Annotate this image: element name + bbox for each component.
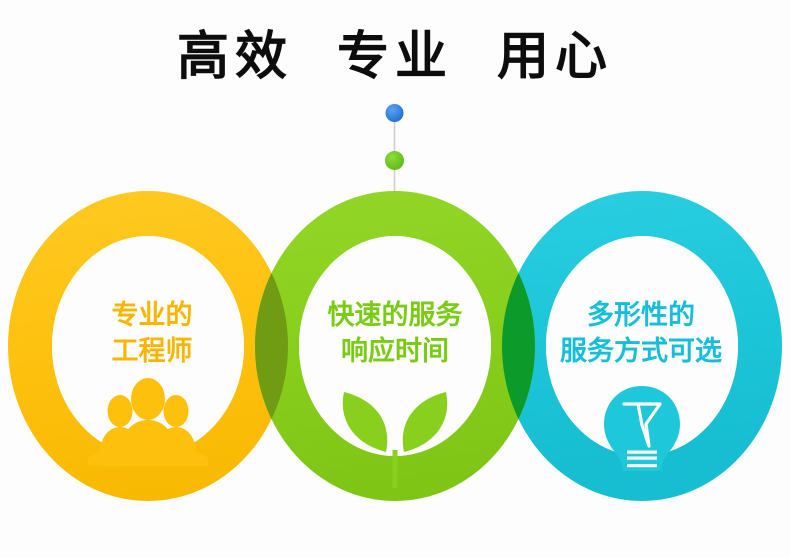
headline-word-1: 高效 xyxy=(177,26,293,88)
ring-orange-label: 专业的 工程师 xyxy=(48,298,256,369)
ring-orange-label-line-1: 专业的 xyxy=(48,298,256,334)
ring-cyan-label-line-2: 服务方式可选 xyxy=(522,334,760,370)
blue-dot-icon xyxy=(386,104,404,122)
headline-word-3: 用心 xyxy=(497,26,613,88)
page-title: 高效专业用心 xyxy=(0,26,790,88)
ring-green-label: 快速的服务 响应时间 xyxy=(285,298,505,369)
ring-green-label-line-1: 快速的服务 xyxy=(285,298,505,334)
ring-cyan-label: 多形性的 服务方式可选 xyxy=(522,298,760,369)
ring-green-label-line-2: 响应时间 xyxy=(285,334,505,370)
infographic-canvas: 高效专业用心 xyxy=(0,0,790,557)
ring-cyan-label-line-1: 多形性的 xyxy=(522,298,760,334)
green-dot-icon xyxy=(385,151,404,170)
ring-orange-label-line-2: 工程师 xyxy=(48,334,256,370)
headline-word-2: 专业 xyxy=(337,26,453,88)
